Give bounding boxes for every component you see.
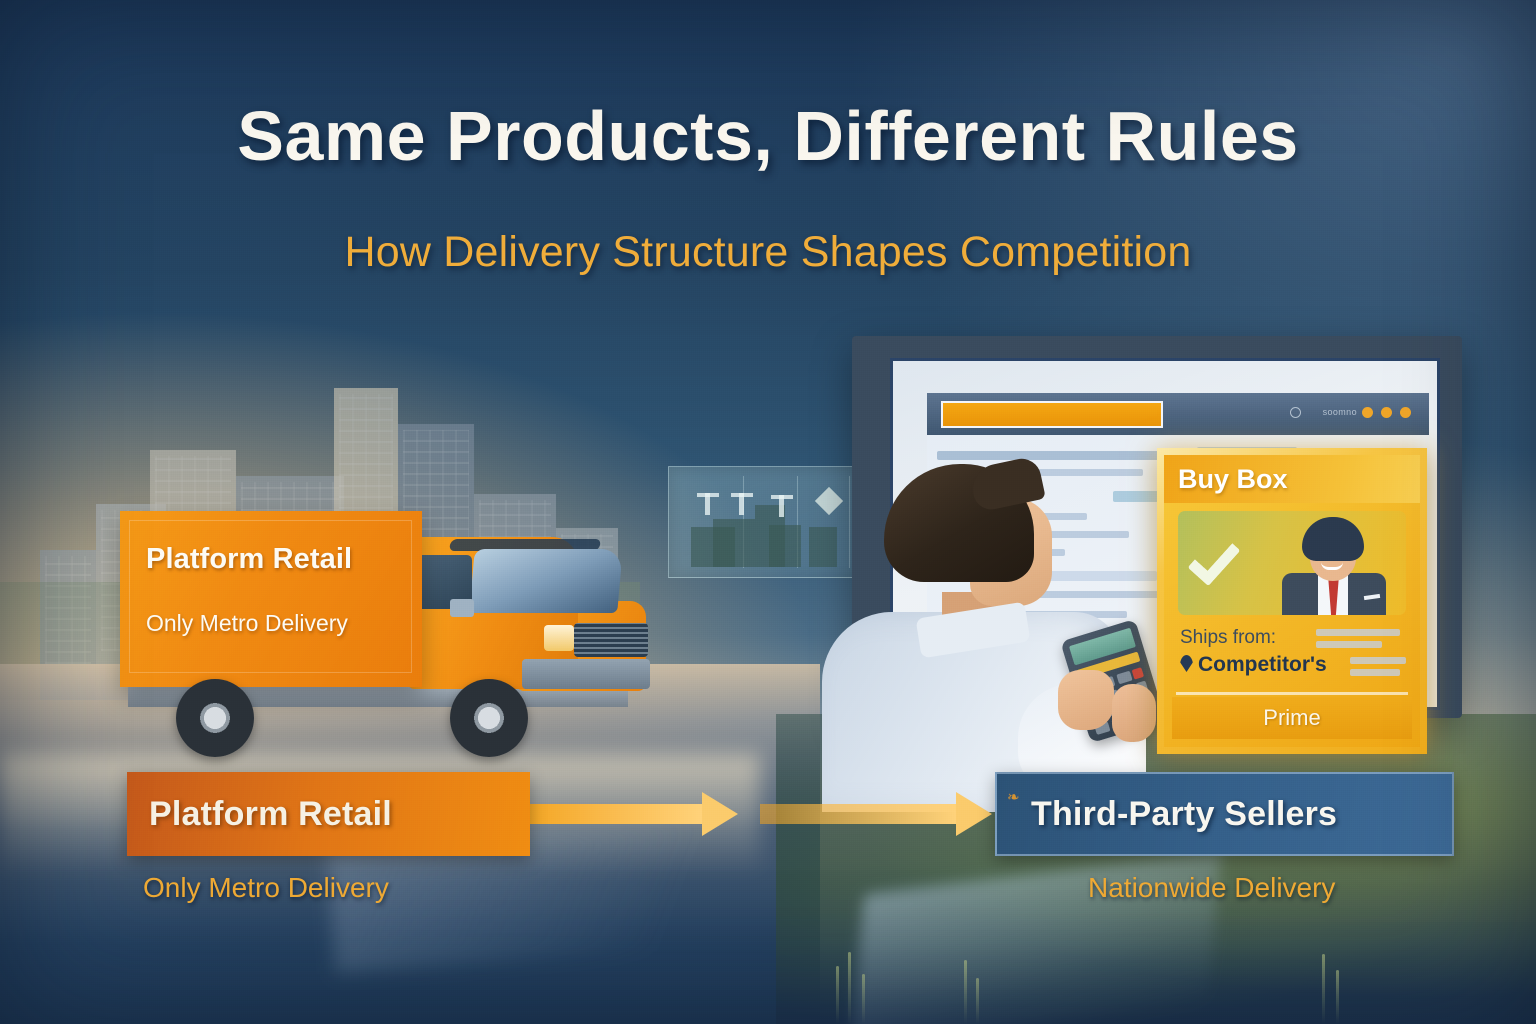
poster-canvas: Platform Retail Only Metro Delivery soom… — [0, 0, 1536, 1024]
banner-platform-retail: Platform Retail — [127, 772, 530, 856]
truck-signage-subtitle: Only Metro Delivery — [146, 610, 408, 637]
map-pin-icon — [1180, 655, 1193, 672]
buy-box-title: Buy Box — [1178, 464, 1288, 495]
seller-name: Competitor's — [1198, 653, 1327, 677]
person-hand-right — [1112, 684, 1156, 742]
search-input[interactable] — [941, 401, 1163, 428]
truck-signage-title: Platform Retail — [146, 543, 408, 576]
check-icon — [1188, 532, 1241, 586]
ships-from-label: Ships from: — [1180, 627, 1276, 649]
truck-signage: Platform Retail Only Metro Delivery — [146, 543, 408, 637]
buy-box-header: Buy Box — [1164, 455, 1420, 503]
person-with-calculator — [822, 452, 1162, 792]
browser-titlebar-text: soomno — [1323, 407, 1357, 417]
prime-badge-label: Prime — [1263, 705, 1320, 731]
page-title: Same Products, Different Rules — [0, 96, 1536, 176]
person-hand-left — [1058, 670, 1114, 730]
banner-third-party-sellers: ❧ Third-Party Sellers — [995, 772, 1454, 856]
truck-grille — [574, 623, 648, 657]
prime-badge[interactable]: Prime — [1172, 697, 1412, 739]
buy-box-card[interactable]: Buy Box Ships from: — [1157, 448, 1427, 754]
window-dot-1[interactable] — [1362, 407, 1373, 418]
truck-headlight — [544, 625, 574, 651]
account-icon[interactable] — [1290, 407, 1301, 418]
decorative-mark: ❧ — [1007, 788, 1020, 806]
caption-left: Only Metro Delivery — [143, 872, 389, 904]
caption-right: Nationwide Delivery — [1088, 872, 1335, 904]
truck-windshield — [469, 549, 623, 613]
arrow-right-icon-1 — [506, 792, 738, 836]
truck-mirror — [450, 599, 474, 617]
buy-box-seller-photo — [1178, 511, 1406, 615]
delivery-truck: Platform Retail Only Metro Delivery — [120, 503, 645, 738]
truck-wheel-rear — [176, 679, 254, 757]
buy-box-inner: Buy Box Ships from: — [1164, 455, 1420, 747]
buy-box-divider — [1176, 692, 1408, 695]
browser-titlebar[interactable]: soomno — [927, 393, 1429, 435]
truck-wheel-front — [450, 679, 528, 757]
truck-bumper — [522, 659, 650, 689]
arrow-right-icon-2 — [760, 792, 992, 836]
window-controls[interactable] — [1362, 407, 1411, 418]
banner-third-party-sellers-label: Third-Party Sellers — [1031, 795, 1337, 834]
page-subtitle: How Delivery Structure Shapes Competitio… — [0, 228, 1536, 277]
window-dot-2[interactable] — [1381, 407, 1392, 418]
window-dot-3[interactable] — [1400, 407, 1411, 418]
avatar — [1274, 517, 1394, 615]
banner-platform-retail-label: Platform Retail — [149, 795, 392, 834]
